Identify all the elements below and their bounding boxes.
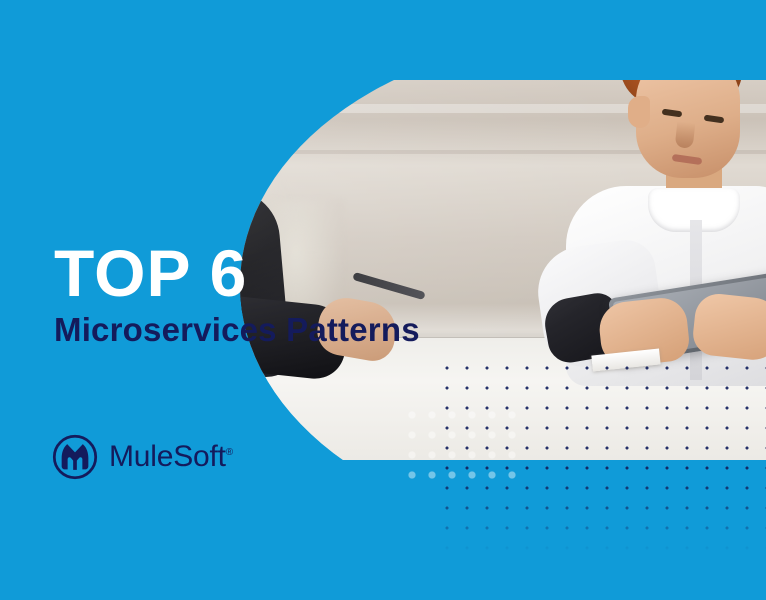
- woman-neck: [133, 173, 185, 223]
- promo-slide: TOP 6 Microservices Patterns MuleSoft®: [0, 0, 766, 600]
- registered-trademark: ®: [226, 447, 233, 458]
- woman-ponytail: [37, 81, 124, 219]
- woman-eye: [172, 127, 194, 136]
- woman-hair: [60, 80, 212, 258]
- mulesoft-logo: MuleSoft®: [52, 434, 233, 480]
- page-subtitle: Microservices Patterns: [54, 312, 420, 348]
- woman-nose: [190, 140, 204, 160]
- light-dot-pattern: [398, 401, 518, 481]
- mulesoft-logo-icon: [52, 434, 98, 480]
- woman-eyebrow: [170, 115, 196, 123]
- woman-fringe: [101, 80, 220, 127]
- page-title: TOP 6: [54, 240, 247, 306]
- man-ear: [628, 96, 650, 128]
- brand-name: MuleSoft: [109, 440, 226, 473]
- woman-face: [109, 80, 217, 197]
- woman-lips: [178, 164, 203, 175]
- mulesoft-wordmark: MuleSoft®: [109, 440, 233, 474]
